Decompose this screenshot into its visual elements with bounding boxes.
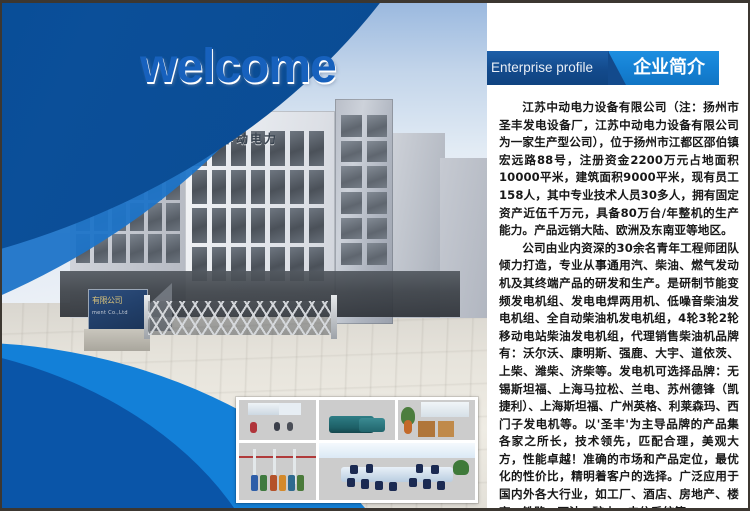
frame-edge-left: [0, 3, 2, 511]
ribbon-english-label: Enterprise profile: [487, 51, 609, 85]
conference-room-photo: [319, 443, 475, 500]
company-plaque-en: ment Co.,Ltd: [89, 306, 147, 319]
generator-workshop-photo: [319, 400, 396, 440]
company-plaque-cn: 有限公司: [89, 290, 147, 306]
welcome-heading: welcome: [140, 39, 336, 94]
office-desks-photo: [398, 400, 475, 440]
right-content-panel: Enterprise profile 企业简介 江苏中动电力设备有限公司（注：扬…: [487, 3, 750, 511]
profile-paragraph-1: 江苏中动电力设备有限公司（注：扬州市圣丰发电设备厂，江苏中动电力设备有限公司为一…: [499, 99, 739, 240]
left-visual-panel: 中动电力 有限公司 ment Co.,Ltd welcome: [0, 3, 487, 511]
window-grid-tower: [341, 115, 387, 265]
retractable-gate: [148, 301, 333, 335]
office-meeting-photo: [239, 400, 316, 440]
company-profile-text: 江苏中动电力设备有限公司（注：扬州市圣丰发电设备厂，江苏中动电力设备有限公司为一…: [499, 99, 739, 511]
slide-canvas: 中动电力 有限公司 ment Co.,Ltd welcome: [0, 0, 750, 511]
company-plaque: 有限公司 ment Co.,Ltd: [88, 289, 148, 331]
factory-floor-photo: [239, 443, 316, 500]
company-plaque-base: [84, 329, 150, 351]
profile-paragraph-2: 公司由业内资深的30余名青年工程师团队倾力打造，专业从事通用汽、柴油、燃气发动机…: [499, 240, 739, 511]
photo-collage: [236, 397, 478, 503]
gate-post-right: [331, 295, 337, 339]
section-header-ribbon: Enterprise profile 企业简介: [487, 51, 719, 85]
